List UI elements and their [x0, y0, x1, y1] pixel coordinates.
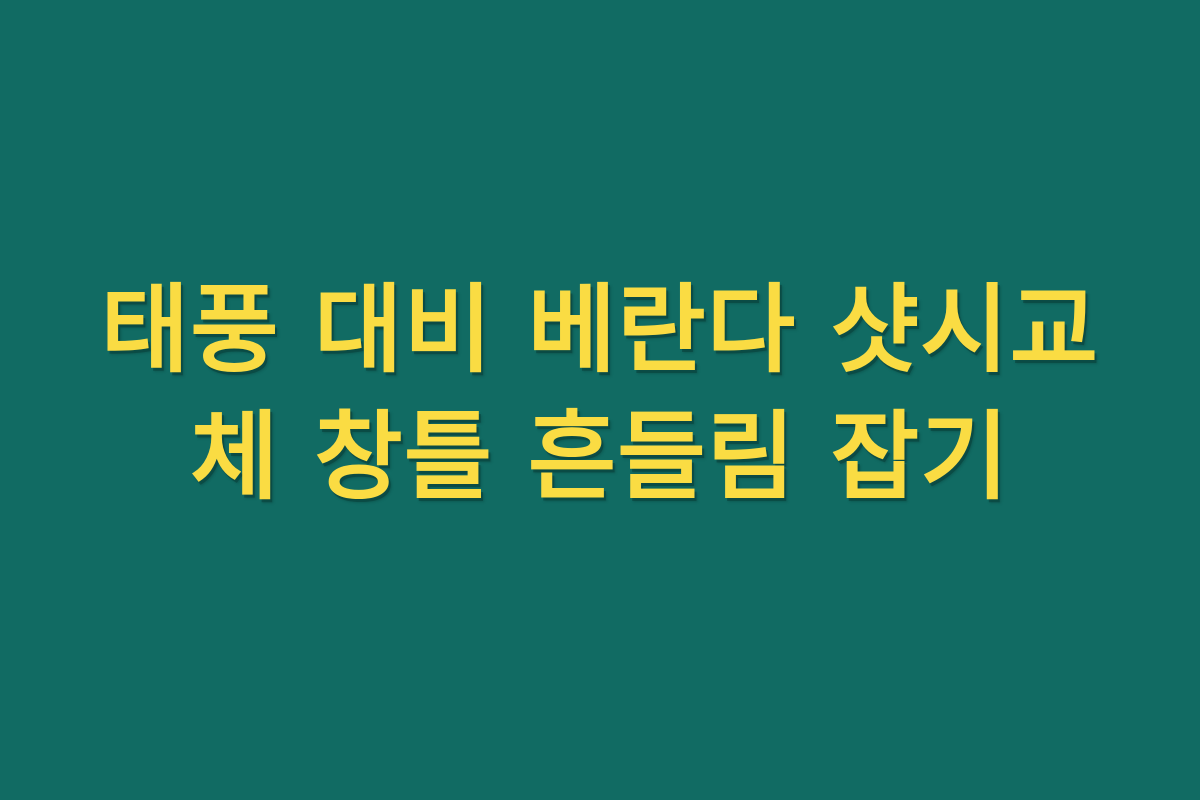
title-text-block: 태풍 대비 베란다 샷시교 체 창틀 흔들림 잡기 — [70, 267, 1130, 520]
title-line-1: 태풍 대비 베란다 샷시교 — [70, 267, 1130, 394]
title-card-banner: 태풍 대비 베란다 샷시교 체 창틀 흔들림 잡기 — [0, 0, 1200, 800]
title-line-2: 체 창틀 흔들림 잡기 — [70, 394, 1130, 521]
